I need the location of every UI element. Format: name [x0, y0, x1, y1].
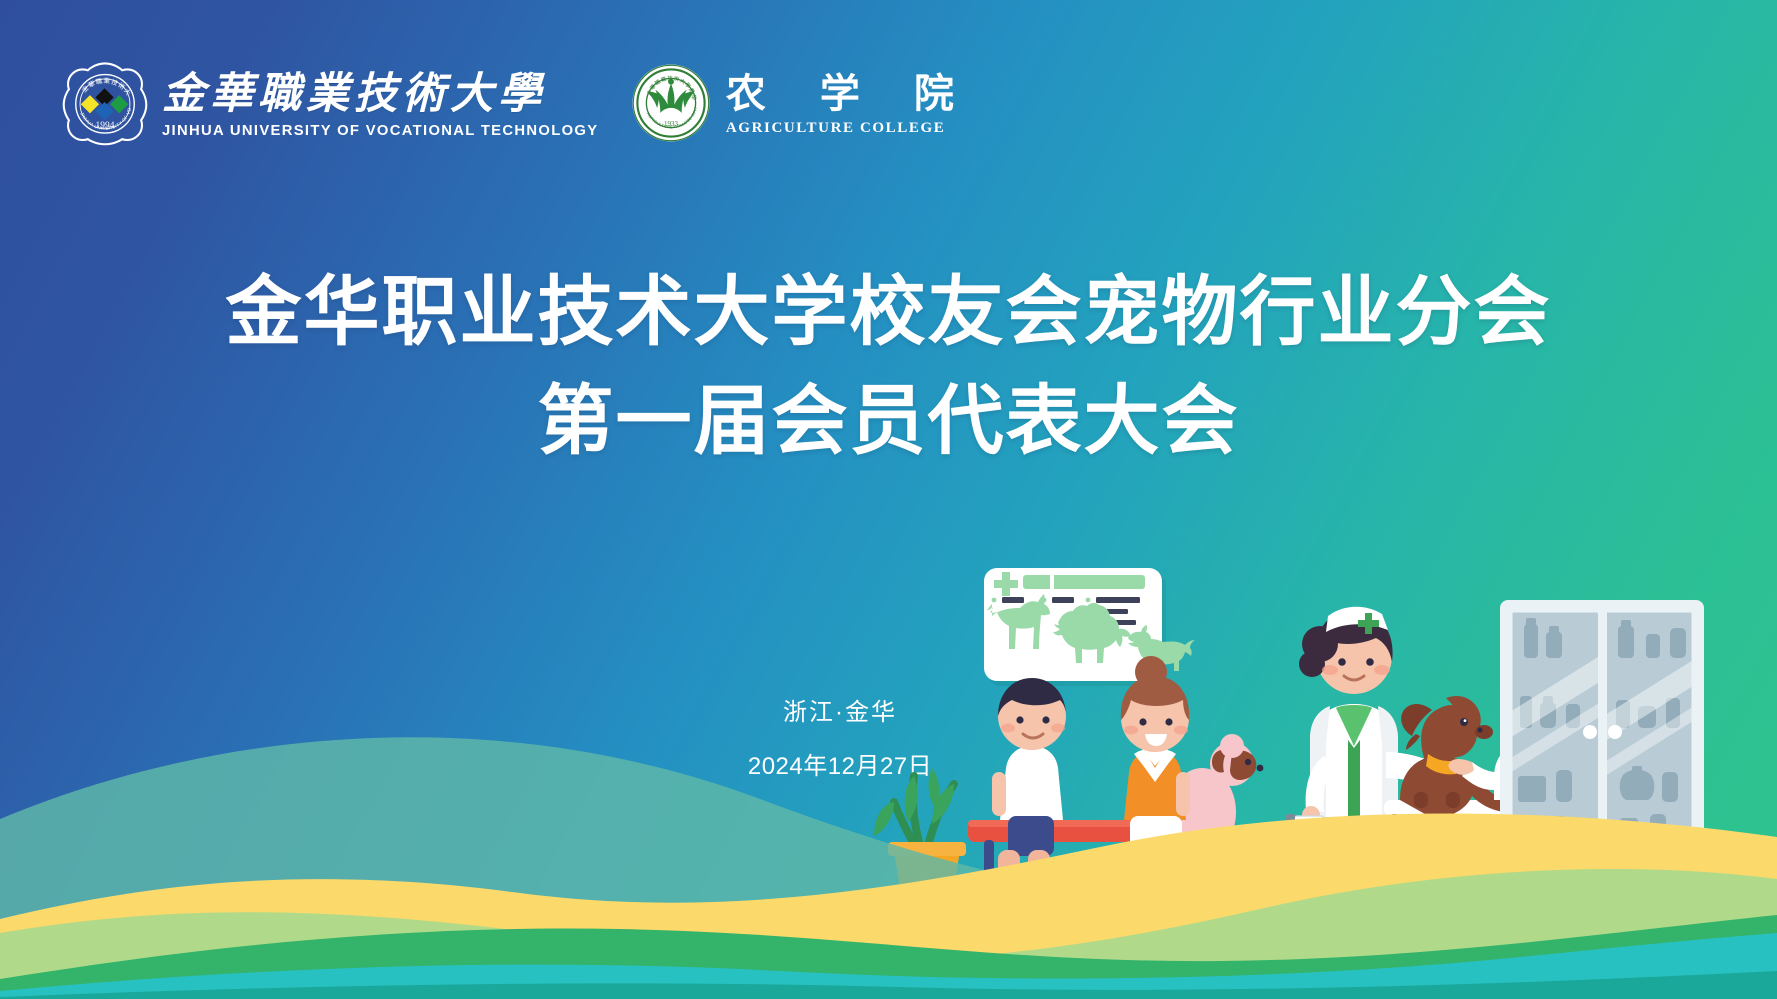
college-name-en: AGRICULTURE COLLEGE: [726, 120, 976, 137]
jinhua-university-seal-icon: 1994 金華職業技術大學 JINHUA UNIVERSITY OF VOCAT…: [62, 60, 148, 151]
college-logo: 1933 金華職業技術大學農學院 AGRICULTURE COLLEGE JUV…: [630, 62, 976, 149]
title-line-1: 金华职业技术大学校友会宠物行业分会: [0, 258, 1777, 367]
logo-bar: 1994 金華職業技術大學 JINHUA UNIVERSITY OF VOCAT…: [62, 60, 976, 151]
university-name-block: 金華職業技術大學 JINHUA UNIVERSITY OF VOCATIONAL…: [162, 73, 590, 139]
main-title: 金华职业技术大学校友会宠物行业分会 第一届会员代表大会: [0, 258, 1777, 475]
event-poster: 1994 金華職業技術大學 JINHUA UNIVERSITY OF VOCAT…: [0, 0, 1777, 999]
university-name-en: JINHUA UNIVERSITY OF VOCATIONAL TECHNOLO…: [162, 123, 598, 139]
agriculture-college-seal-icon: 1933 金華職業技術大學農學院 AGRICULTURE COLLEGE JUV…: [630, 62, 712, 149]
college-name-cn: 农 学 院: [726, 74, 976, 114]
college-name-block: 农 学 院 AGRICULTURE COLLEGE: [726, 74, 976, 137]
svg-text:金華職業技術大學: 金華職業技術大學: [62, 60, 134, 98]
decorative-waves: [0, 679, 1777, 999]
university-logo: 1994 金華職業技術大學 JINHUA UNIVERSITY OF VOCAT…: [62, 60, 590, 151]
title-line-2: 第一届会员代表大会: [0, 367, 1777, 476]
university-name-cn: 金華職業技術大學: [162, 73, 590, 116]
